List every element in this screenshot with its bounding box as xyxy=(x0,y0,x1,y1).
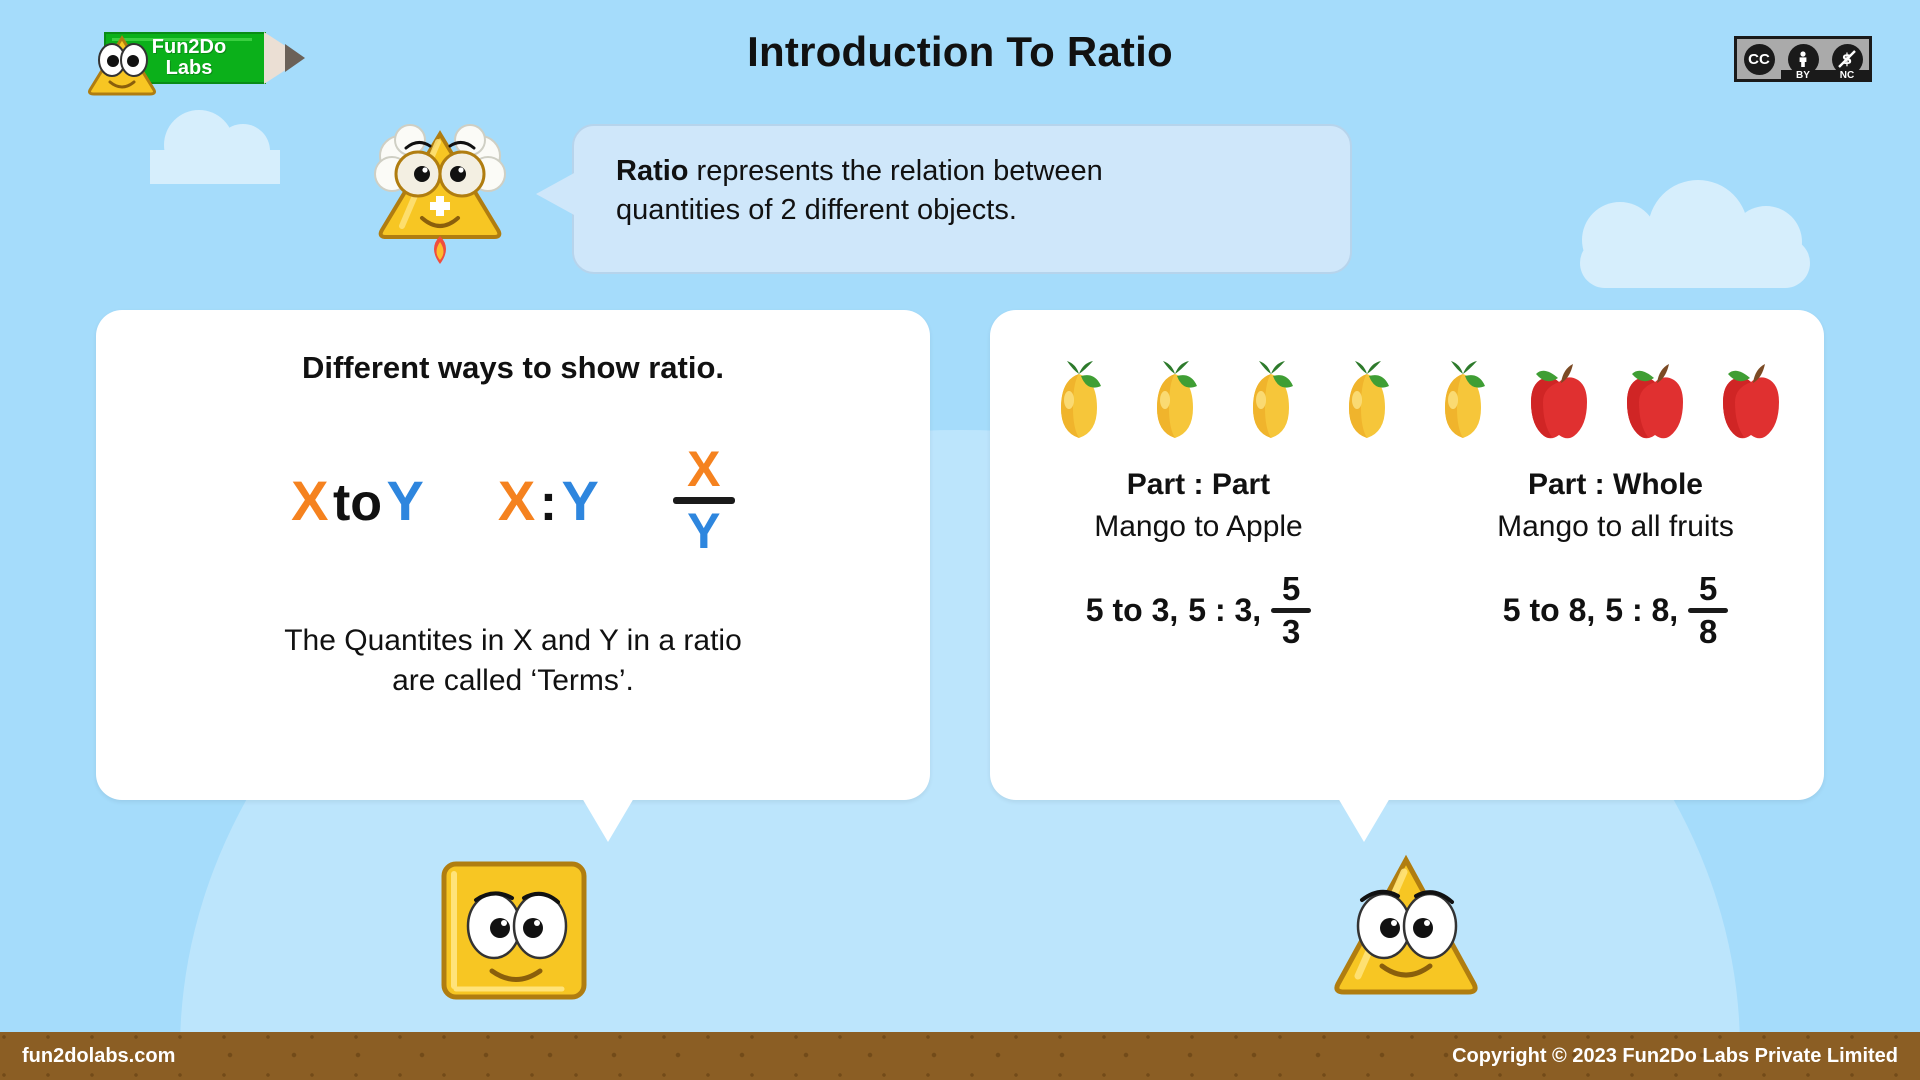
part-to-part-subtitle: Mango to Apple xyxy=(990,510,1407,544)
triangle-mascot-icon xyxy=(1326,850,1486,1005)
left-card: Different ways to show ratio. X to Y X :… xyxy=(96,310,930,800)
left-card-note: The Quantites in X and Y in a ratio are … xyxy=(96,621,930,701)
ratio-notation-colon: X : Y xyxy=(498,468,599,533)
scientist-triangle-mascot-icon xyxy=(366,118,516,268)
ratio-words-x: X xyxy=(291,469,328,532)
part-to-part-title: Part : Part xyxy=(990,468,1407,502)
intro-bubble-keyword: Ratio xyxy=(616,155,689,187)
footer-copyright: Copyright © 2023 Fun2Do Labs Private Lim… xyxy=(1452,1045,1898,1068)
part-to-part-numerator: 5 xyxy=(1282,572,1300,606)
left-card-note-line-1: The Quantites in X and Y in a ratio xyxy=(166,621,860,661)
part-to-whole-words: 5 to 8, xyxy=(1503,592,1595,629)
slide-canvas: Fun2Do Labs Introduction To Ratio CC BY xyxy=(0,0,1920,1080)
left-card-heading: Different ways to show ratio. xyxy=(96,350,930,386)
mango-icon xyxy=(1326,350,1408,442)
left-card-note-line-2: are called ‘Terms’. xyxy=(166,661,860,701)
left-card-tail xyxy=(582,798,634,842)
part-to-part-column: Part : Part Mango to Apple 5 to 3, 5 : 3… xyxy=(990,468,1407,648)
part-to-whole-values: 5 to 8, 5 : 8, 5 8 xyxy=(1407,572,1824,648)
footer-website[interactable]: fun2dolabs.com xyxy=(22,1045,175,1068)
mango-icon xyxy=(1230,350,1312,442)
part-to-part-denominator: 3 xyxy=(1282,615,1300,649)
cc-nc-label: NC xyxy=(1825,70,1869,81)
mango-icon xyxy=(1422,350,1504,442)
cc-by-slot: BY xyxy=(1781,39,1825,79)
ratio-words-y: Y xyxy=(387,469,424,532)
intro-bubble-text: Ratio represents the relation between qu… xyxy=(574,126,1350,257)
intro-speech-bubble: Ratio represents the relation between qu… xyxy=(572,124,1352,274)
ratio-notation-fraction: X Y xyxy=(673,444,735,557)
part-to-whole-fraction: 5 8 xyxy=(1688,572,1728,648)
part-to-whole-subtitle: Mango to all fruits xyxy=(1407,510,1824,544)
part-to-part-fraction-bar xyxy=(1271,608,1311,613)
creative-commons-badge[interactable]: CC BY $ NC xyxy=(1734,36,1872,82)
ratio-fraction-numerator: X xyxy=(687,444,720,495)
intro-bubble-line-1-rest: represents the relation between xyxy=(689,155,1103,187)
apple-icon xyxy=(1614,350,1696,442)
ratio-colon-x: X xyxy=(498,469,535,532)
part-to-part-words: 5 to 3, xyxy=(1086,592,1178,629)
ratio-words-separator: to xyxy=(333,474,382,532)
ratio-notation-row: X to Y X : Y X Y xyxy=(96,444,930,557)
ratio-fraction-denominator: Y xyxy=(687,506,720,557)
part-to-whole-numerator: 5 xyxy=(1699,572,1717,606)
part-to-part-colon: 5 : 3, xyxy=(1188,592,1261,629)
part-to-whole-colon: 5 : 8, xyxy=(1605,592,1678,629)
ratio-columns: Part : Part Mango to Apple 5 to 3, 5 : 3… xyxy=(990,468,1824,648)
speech-bubble-tail xyxy=(536,172,576,216)
mango-icon xyxy=(1038,350,1120,442)
page-title: Introduction To Ratio xyxy=(0,28,1920,76)
cc-icon-slot: CC xyxy=(1737,39,1781,79)
fruit-row xyxy=(990,310,1824,442)
part-to-part-fraction: 5 3 xyxy=(1271,572,1311,648)
part-to-whole-column: Part : Whole Mango to all fruits 5 to 8,… xyxy=(1407,468,1824,648)
mango-icon xyxy=(1134,350,1216,442)
ratio-colon-separator: : xyxy=(540,474,557,532)
intro-bubble-line-2: quantities of 2 different objects. xyxy=(616,191,1308,230)
cloud-right xyxy=(1600,238,1810,288)
ratio-colon-y: Y xyxy=(561,469,598,532)
apple-icon xyxy=(1710,350,1792,442)
right-card: Part : Part Mango to Apple 5 to 3, 5 : 3… xyxy=(990,310,1824,800)
part-to-whole-denominator: 8 xyxy=(1699,615,1717,649)
part-to-whole-title: Part : Whole xyxy=(1407,468,1824,502)
part-to-part-values: 5 to 3, 5 : 3, 5 3 xyxy=(990,572,1407,648)
apple-icon xyxy=(1518,350,1600,442)
ratio-notation-words: X to Y xyxy=(291,468,424,533)
cloud-left xyxy=(150,150,280,184)
intro-bubble-line-1: Ratio represents the relation between xyxy=(616,152,1308,191)
right-card-tail xyxy=(1338,798,1390,842)
part-to-whole-fraction-bar xyxy=(1688,608,1728,613)
cc-icon: CC xyxy=(1744,44,1775,75)
page-footer: fun2dolabs.com Copyright © 2023 Fun2Do L… xyxy=(0,1032,1920,1080)
cc-nc-slot: $ NC xyxy=(1825,39,1869,79)
cc-by-label: BY xyxy=(1781,70,1825,81)
square-mascot-icon xyxy=(438,858,590,1003)
